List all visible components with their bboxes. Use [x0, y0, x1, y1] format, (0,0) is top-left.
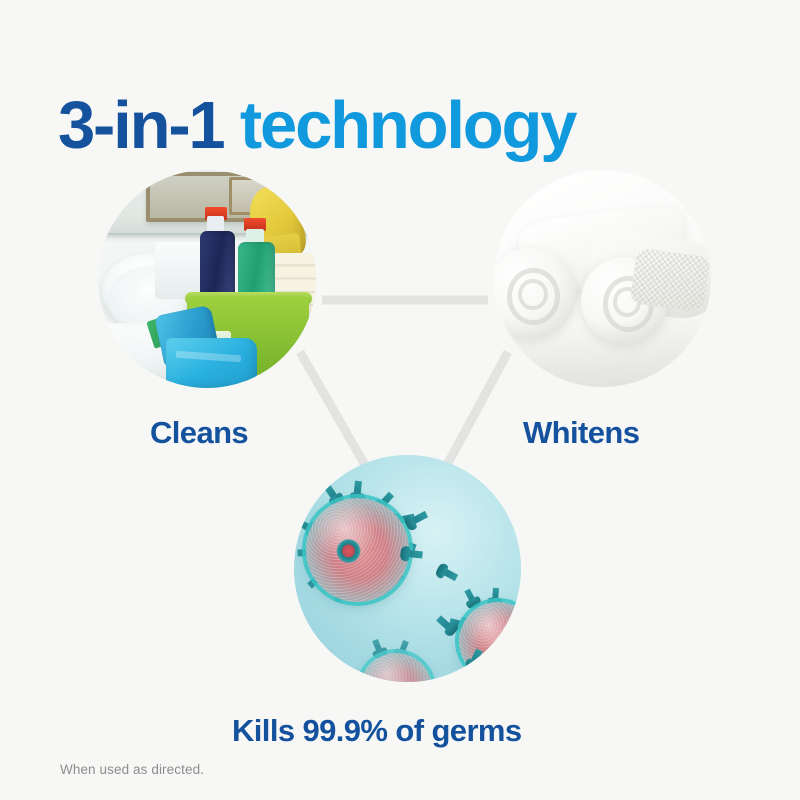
infographic-canvas: 3-in-1 technology — [0, 0, 800, 800]
node-label-cleans: Cleans — [150, 415, 248, 451]
towel-swirl-left-inner — [518, 279, 548, 311]
virus-photo — [294, 455, 521, 682]
virus-spike-floating — [405, 550, 423, 559]
virus-body — [360, 653, 432, 682]
virus-surface-texture — [360, 653, 432, 682]
virus-spike — [354, 480, 363, 497]
footnote-disclaimer: When used as directed. — [60, 762, 204, 777]
white-towels-photo — [494, 170, 711, 387]
node-label-whitens: Whitens — [523, 415, 639, 451]
page-title: 3-in-1 technology — [58, 92, 575, 159]
title-part-secondary: technology — [224, 88, 576, 163]
virus-spike — [492, 587, 499, 601]
node-germs-image[interactable] — [294, 455, 521, 682]
towel-shadow — [494, 322, 711, 387]
towel-weave-texture — [629, 248, 710, 314]
virus-particle-main — [299, 491, 417, 609]
toilet-tank — [155, 242, 203, 299]
blue-microfiber-cloth — [166, 338, 258, 388]
node-whitens-image[interactable] — [494, 170, 711, 387]
cleaning-supplies-photo — [98, 170, 316, 388]
node-cleans-image[interactable] — [98, 170, 316, 388]
title-part-primary: 3-in-1 — [58, 88, 224, 163]
virus-core-marking — [336, 539, 361, 564]
node-label-germs: Kills 99.9% of germs — [232, 713, 522, 749]
